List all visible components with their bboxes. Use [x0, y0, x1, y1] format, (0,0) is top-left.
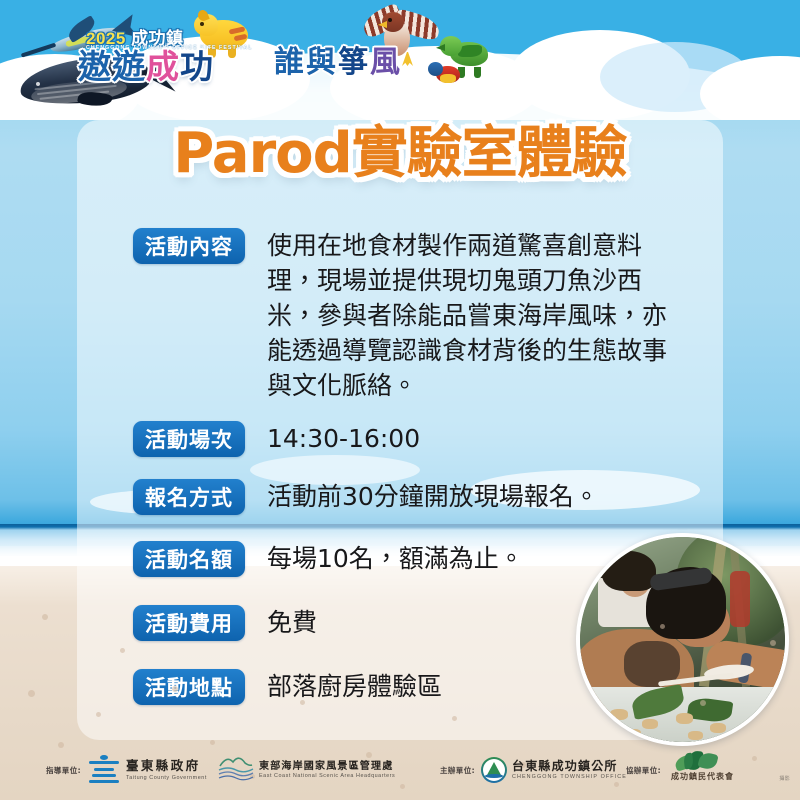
red-bird-kite: [430, 62, 464, 88]
row-label-badge: 活動場次: [133, 421, 245, 457]
photo-credit: 攝影: [779, 775, 790, 782]
festival-char: 風: [370, 45, 402, 80]
festival-sub-title: 誰與箏風: [274, 48, 402, 78]
festival-char: 與: [306, 45, 338, 80]
row-label-badge: 活動費用: [133, 605, 245, 641]
east-coast-nsa-en: East Coast National Scenic Area Headquar…: [259, 773, 395, 779]
sand-speckle: [300, 700, 305, 705]
advisor-label: 指導單位:: [46, 765, 81, 776]
taitung-county-names: 臺東縣政府 Taitung County Government: [126, 759, 207, 781]
page-title: Parod實驗室體驗: [0, 126, 800, 182]
footer-co-organizer-group: 協辦單位: 成功鎮民代表會: [626, 740, 743, 800]
footer-organizer-group: 主辦單位: 台東縣成功鎮公所 CHENGGONG TOWNSHIP OFFICE: [440, 740, 627, 800]
east-coast-nsa-zh: 東部海岸國家風景區管理處: [259, 761, 395, 773]
chenggong-township-zh: 台東縣成功鎮公所: [512, 760, 627, 774]
footer-advisor-group: 指導單位: 臺東縣政府 Taitung County Government: [46, 740, 207, 800]
info-row-signup: 報名方式 活動前30分鐘開放現場報名。: [133, 479, 693, 515]
taitung-county-zh: 臺東縣政府: [126, 759, 207, 773]
row-value: 14:30-16:00: [245, 421, 693, 457]
festival-char: 功: [180, 47, 214, 86]
sand-speckle: [660, 624, 665, 629]
sand-speckle: [96, 712, 101, 717]
east-coast-mountain-wave-icon: [218, 753, 254, 783]
taitung-county-logo: [87, 753, 121, 787]
east-coast-nsa-logo: [218, 753, 254, 788]
sand-speckle: [770, 640, 776, 646]
sand-speckle: [42, 614, 48, 620]
sand-speckle: [452, 716, 457, 721]
chenggong-township-logo: [481, 757, 507, 783]
sand-speckle: [172, 686, 178, 692]
chenggong-council-leaf-logo: 成功鎮民代表會: [671, 750, 743, 790]
taitung-county-en: Taitung County Government: [126, 775, 207, 781]
sand-speckle: [28, 690, 35, 697]
co-organizer-label: 協辦單位:: [626, 765, 661, 776]
footer: 指導單位: 臺東縣政府 Taitung County Government: [0, 740, 800, 800]
info-row-session: 活動場次 14:30-16:00: [133, 421, 693, 457]
info-row-content: 活動內容 使用在地食材製作兩道驚喜創意料理，現場並提供現切鬼頭刀魚沙西米，參與者…: [133, 228, 693, 403]
row-label-badge: 活動內容: [133, 228, 245, 264]
event-photo: [576, 533, 789, 746]
header-kite-strip: 2025 成功鎮 CHENGGONG TOWNSHIP OFFICE KITE …: [0, 0, 800, 120]
festival-char: 誰: [274, 45, 306, 80]
footer-east-coast-group: 東部海岸國家風景區管理處 East Coast National Scenic …: [218, 740, 395, 800]
sand-speckle: [700, 700, 706, 706]
poster-root: 2025 成功鎮 CHENGGONG TOWNSHIP OFFICE KITE …: [0, 0, 800, 800]
sand-speckle: [120, 648, 125, 653]
festival-char: 遨: [78, 47, 112, 86]
festival-main-title: 遨遊成功: [78, 50, 214, 83]
row-value: 使用在地食材製作兩道驚喜創意料理，現場並提供現切鬼頭刀魚沙西米，參與者除能品嘗東…: [245, 228, 677, 403]
festival-char: 箏: [338, 45, 370, 80]
row-value: 活動前30分鐘開放現場報名。: [245, 479, 693, 515]
row-label-badge: 活動名額: [133, 541, 245, 577]
organizer-label: 主辦單位:: [440, 765, 475, 776]
row-label-badge: 活動地點: [133, 669, 245, 705]
festival-char: 成: [146, 47, 180, 86]
festival-char: 遊: [112, 47, 146, 86]
chenggong-council-zh: 成功鎮民代表會: [671, 771, 734, 782]
row-label-badge: 報名方式: [133, 479, 245, 515]
chenggong-township-en: CHENGGONG TOWNSHIP OFFICE: [512, 774, 627, 780]
festival-logo: 2025 成功鎮 CHENGGONG TOWNSHIP OFFICE KITE …: [78, 24, 408, 92]
chenggong-township-names: 台東縣成功鎮公所 CHENGGONG TOWNSHIP OFFICE: [512, 760, 627, 781]
east-coast-nsa-names: 東部海岸國家風景區管理處 East Coast National Scenic …: [259, 761, 395, 780]
